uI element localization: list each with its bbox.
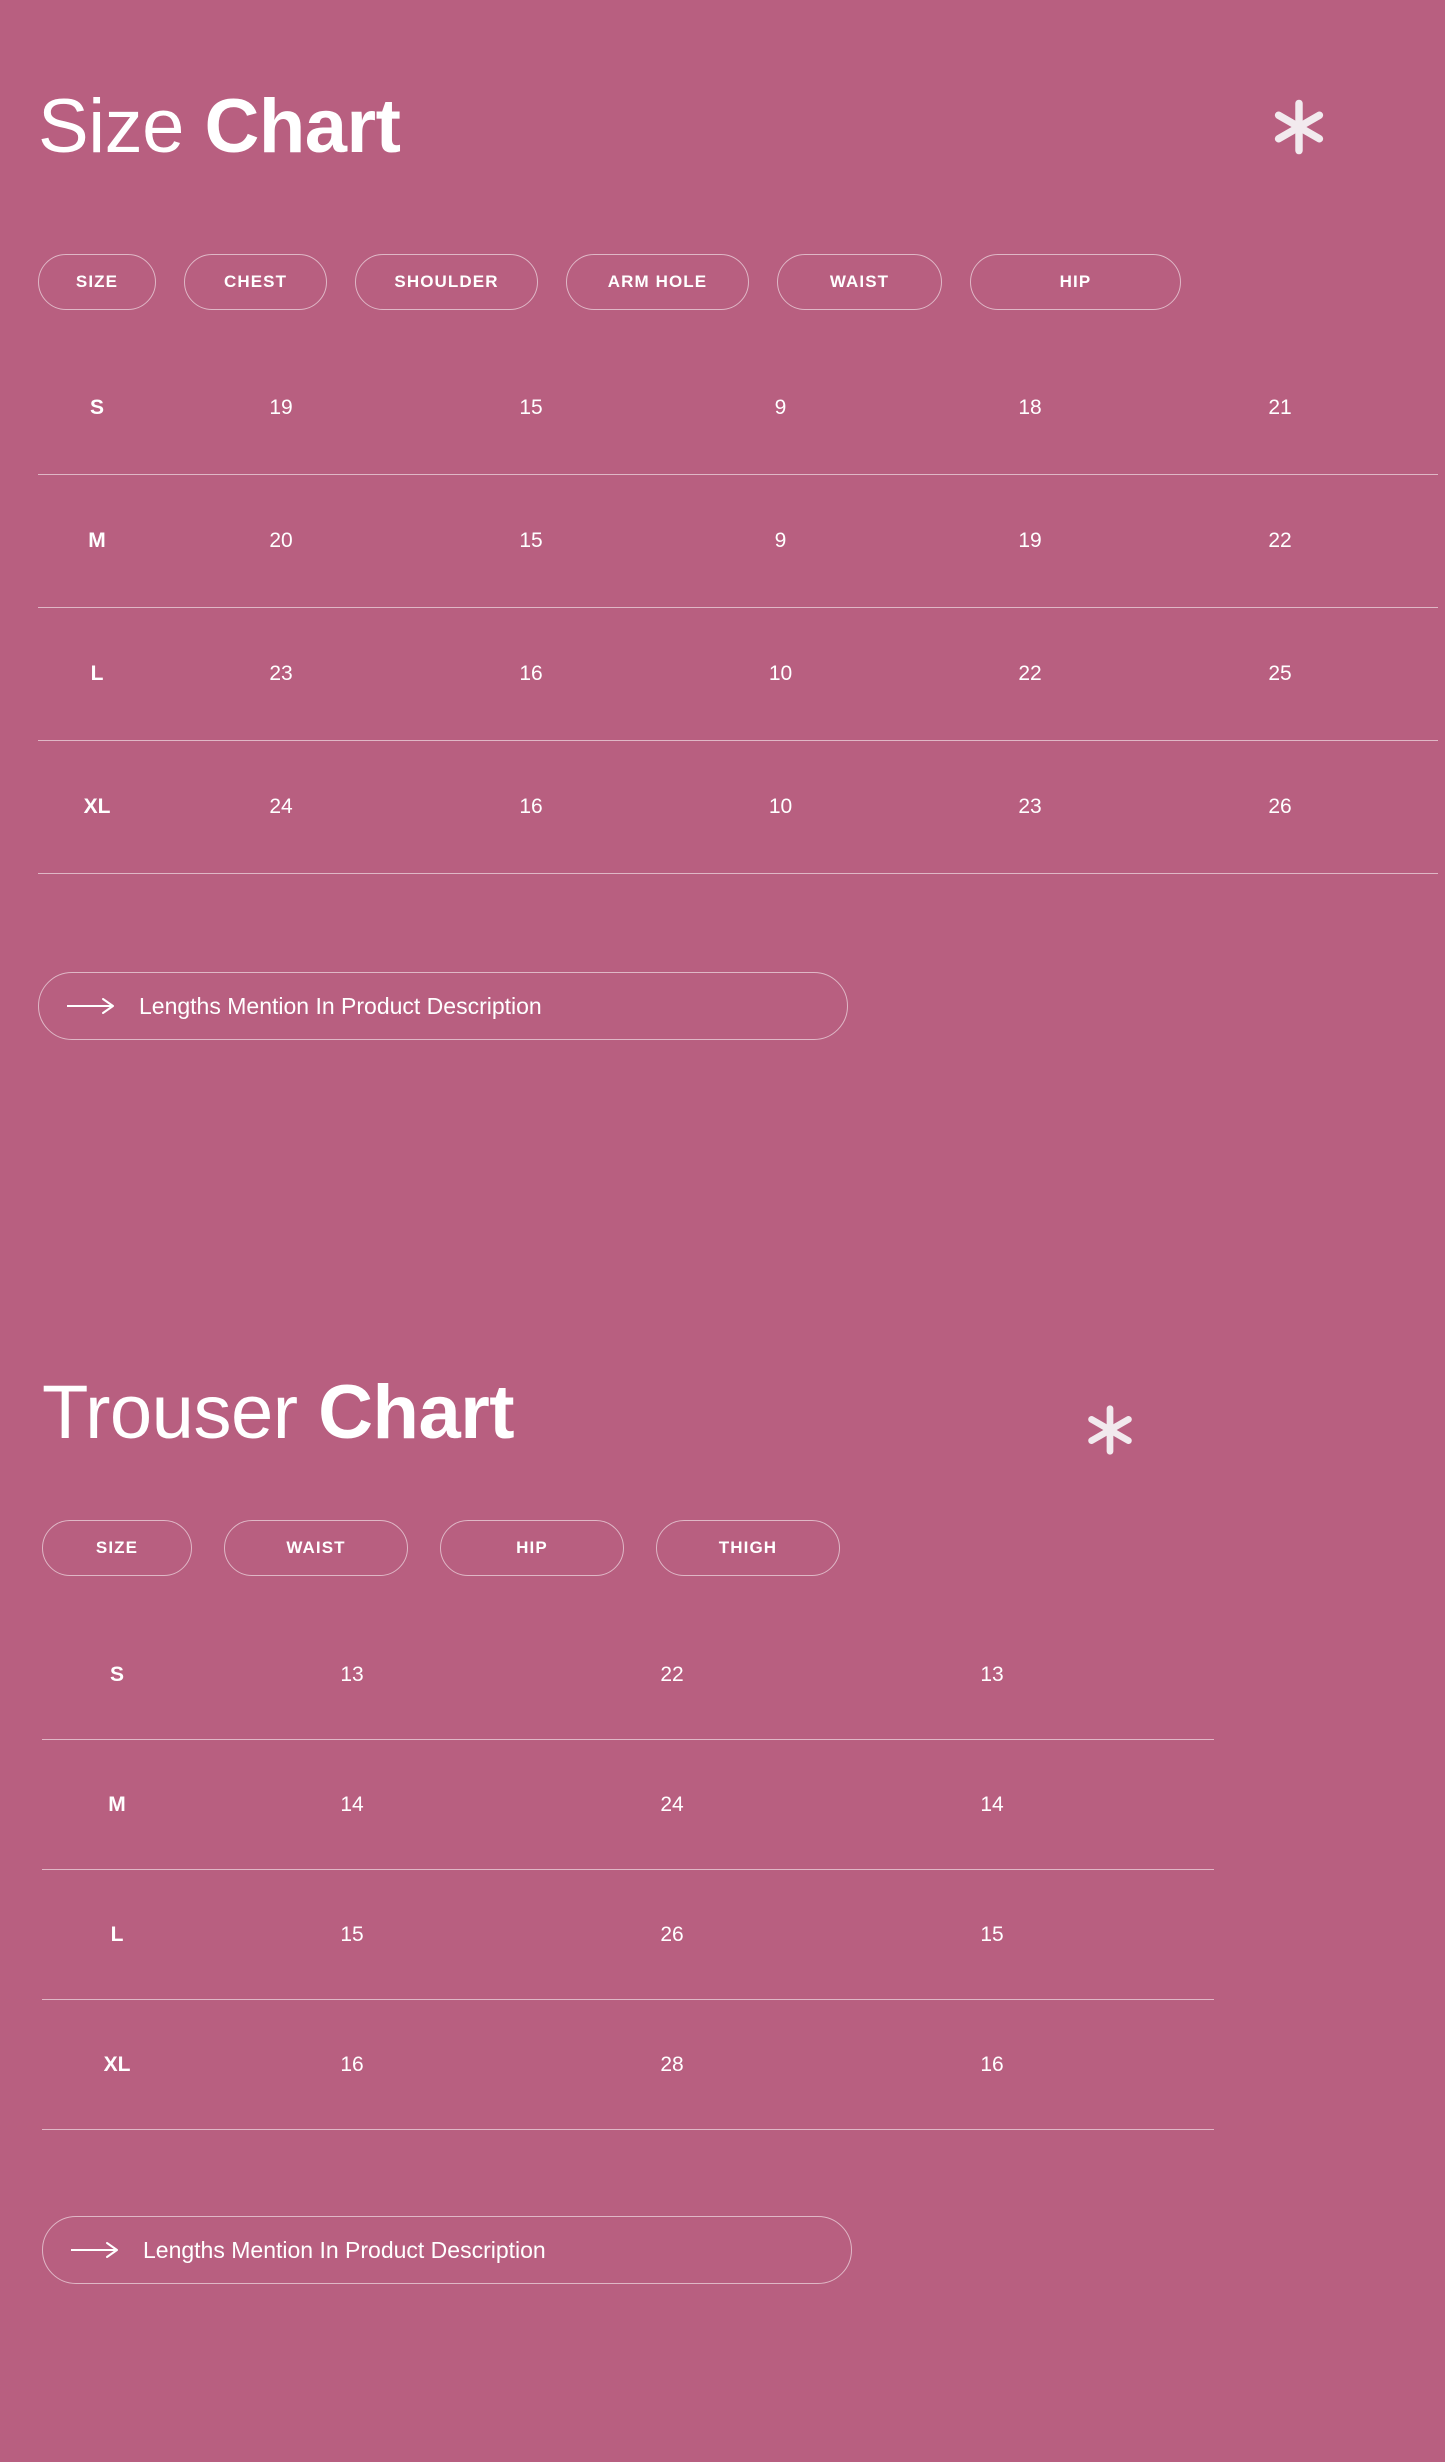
- size-chart-title-light: Size: [38, 84, 184, 169]
- cell-arm-hole: 9: [656, 396, 905, 420]
- size-chart-note: Lengths Mention In Product Description: [38, 972, 848, 1040]
- trouser-chart-title: Trouser Chart: [42, 1375, 514, 1451]
- cell-thigh: 13: [832, 1663, 1152, 1687]
- table-row: XL 24 16 10 23 26: [38, 741, 1438, 874]
- cell-hip: 25: [1155, 662, 1405, 686]
- asterisk-icon: [1082, 1402, 1138, 1458]
- cell-size: S: [38, 396, 156, 420]
- cell-waist: 22: [905, 662, 1155, 686]
- table-row: XL 16 28 16: [42, 2000, 1214, 2130]
- cell-chest: 19: [156, 396, 406, 420]
- size-chart-column-headers: SIZE CHEST SHOULDER ARM HOLE WAIST HIP: [38, 254, 1398, 310]
- cell-waist: 14: [192, 1793, 512, 1817]
- cell-waist: 23: [905, 795, 1155, 819]
- cell-thigh: 14: [832, 1793, 1152, 1817]
- size-chart-title: Size Chart: [38, 89, 400, 165]
- cell-chest: 20: [156, 529, 406, 553]
- column-header-thigh[interactable]: THIGH: [656, 1520, 840, 1576]
- asterisk-icon: [1268, 96, 1330, 158]
- cell-hip: 21: [1155, 396, 1405, 420]
- cell-waist: 16: [192, 2053, 512, 2077]
- cell-thigh: 15: [832, 1923, 1152, 1947]
- cell-hip: 24: [512, 1793, 832, 1817]
- cell-hip: 26: [512, 1923, 832, 1947]
- cell-size: M: [42, 1793, 192, 1817]
- size-chart-page: Size Chart SIZE CHEST SHOULDER ARM HOLE …: [0, 0, 1445, 2462]
- arrow-right-icon: [65, 996, 117, 1016]
- cell-hip: 26: [1155, 795, 1405, 819]
- size-chart-table-body: S 19 15 9 18 21 M 20 15 9 19 22 L 23 16 …: [38, 342, 1438, 874]
- table-row: S 19 15 9 18 21: [38, 342, 1438, 475]
- cell-size: XL: [42, 2053, 192, 2077]
- column-header-chest[interactable]: CHEST: [184, 254, 327, 310]
- table-row: L 15 26 15: [42, 1870, 1214, 2000]
- cell-size: XL: [38, 795, 156, 819]
- size-chart-section: Size Chart SIZE CHEST SHOULDER ARM HOLE …: [0, 0, 1445, 1040]
- cell-shoulder: 16: [406, 795, 656, 819]
- column-header-size[interactable]: SIZE: [42, 1520, 192, 1576]
- trouser-chart-header: Trouser Chart: [42, 1358, 1102, 1468]
- table-row: L 23 16 10 22 25: [38, 608, 1438, 741]
- cell-size: S: [42, 1663, 192, 1687]
- cell-hip: 22: [512, 1663, 832, 1687]
- cell-waist: 19: [905, 529, 1155, 553]
- size-chart-title-bold: Chart: [204, 84, 400, 169]
- trouser-chart-section: Trouser Chart SIZE WAIST HIP THIGH: [0, 1330, 1445, 2284]
- column-header-waist[interactable]: WAIST: [224, 1520, 408, 1576]
- column-header-waist[interactable]: WAIST: [777, 254, 942, 310]
- trouser-chart-title-light: Trouser: [42, 1370, 298, 1455]
- cell-chest: 24: [156, 795, 406, 819]
- column-header-hip[interactable]: HIP: [440, 1520, 624, 1576]
- arrow-right-icon: [69, 2240, 121, 2260]
- column-header-size[interactable]: SIZE: [38, 254, 156, 310]
- cell-waist: 13: [192, 1663, 512, 1687]
- cell-arm-hole: 9: [656, 529, 905, 553]
- cell-hip: 28: [512, 2053, 832, 2077]
- trouser-chart-note: Lengths Mention In Product Description: [42, 2216, 852, 2284]
- cell-size: L: [38, 662, 156, 686]
- column-header-arm-hole[interactable]: ARM HOLE: [566, 254, 749, 310]
- column-header-hip[interactable]: HIP: [970, 254, 1181, 310]
- size-chart-note-text: Lengths Mention In Product Description: [139, 993, 542, 1020]
- trouser-chart-table-body: S 13 22 13 M 14 24 14 L 15 26 15 XL 16 2…: [42, 1610, 1214, 2130]
- cell-chest: 23: [156, 662, 406, 686]
- cell-hip: 22: [1155, 529, 1405, 553]
- trouser-chart-title-bold: Chart: [318, 1370, 514, 1455]
- table-row: M 14 24 14: [42, 1740, 1214, 1870]
- cell-size: M: [38, 529, 156, 553]
- cell-waist: 15: [192, 1923, 512, 1947]
- table-row: M 20 15 9 19 22: [38, 475, 1438, 608]
- cell-shoulder: 15: [406, 529, 656, 553]
- cell-thigh: 16: [832, 2053, 1152, 2077]
- cell-arm-hole: 10: [656, 795, 905, 819]
- cell-size: L: [42, 1923, 192, 1947]
- trouser-chart-column-headers: SIZE WAIST HIP THIGH: [42, 1520, 1222, 1576]
- cell-shoulder: 15: [406, 396, 656, 420]
- table-row: S 13 22 13: [42, 1610, 1214, 1740]
- column-header-shoulder[interactable]: SHOULDER: [355, 254, 538, 310]
- cell-waist: 18: [905, 396, 1155, 420]
- cell-arm-hole: 10: [656, 662, 905, 686]
- size-chart-header: Size Chart: [38, 72, 1368, 182]
- trouser-chart-note-text: Lengths Mention In Product Description: [143, 2237, 546, 2264]
- cell-shoulder: 16: [406, 662, 656, 686]
